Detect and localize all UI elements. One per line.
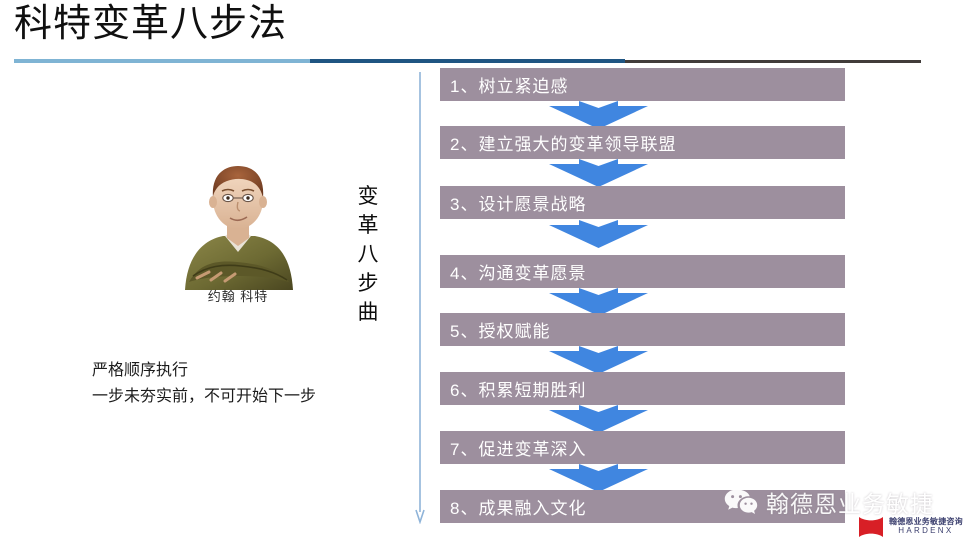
vertical-label-char: 革 (355, 211, 381, 240)
flow-step-label: 2、建立强大的变革领导联盟 (450, 130, 676, 155)
vertical-label-char: 曲 (355, 298, 381, 327)
flow-step-box-4[interactable]: 4、沟通变革愿景 (440, 255, 845, 288)
flow-arrow-5 (549, 346, 648, 374)
flow-arrow-6 (549, 405, 648, 433)
vertical-label-char: 步 (355, 269, 381, 298)
flow-arrow-3 (549, 220, 648, 248)
page-title: 科特变革八步法 (14, 0, 287, 50)
flow-step-label: 6、积累短期胜利 (450, 376, 586, 401)
hardenx-bowtie-icon (858, 516, 884, 538)
watermark: 翰德恩业务敏捷 (724, 485, 934, 519)
john-kotter-portrait (163, 152, 313, 292)
flow-arrow-1 (549, 101, 648, 129)
flow-step-box-2[interactable]: 2、建立强大的变革领导联盟 (440, 126, 845, 159)
flow-step-label: 3、设计愿景战略 (450, 190, 586, 215)
divider-segment-light (14, 59, 310, 63)
flow-step-box-5[interactable]: 5、授权赋能 (440, 313, 845, 346)
flow-step-box-3[interactable]: 3、设计愿景战略 (440, 186, 845, 219)
flow-step-box-7[interactable]: 7、促进变革深入 (440, 431, 845, 464)
note-line-1: 严格顺序执行 (92, 358, 316, 384)
portrait-caption: 约翰 科特 (163, 286, 313, 305)
flow-step-label: 8、成果融入文化 (450, 494, 586, 519)
vertical-label-char: 八 (355, 240, 381, 269)
divider-segment-blue (310, 59, 625, 63)
brand-name-en: HARDENX (889, 527, 963, 536)
flow-arrow-2 (549, 159, 648, 187)
flow-step-label: 7、促进变革深入 (450, 435, 586, 460)
slide-canvas: 科特变革八步法 (0, 0, 973, 545)
wechat-icon (724, 488, 758, 516)
brand-text-lines: 翰德恩业务敏捷咨询 HARDENX (889, 518, 963, 535)
flow-step-label: 4、沟通变革愿景 (450, 259, 586, 284)
note-block: 严格顺序执行 一步未夯实前，不可开始下一步 (92, 358, 316, 410)
divider-segment-dark (625, 60, 921, 63)
flow-step-box-6[interactable]: 6、积累短期胜利 (440, 372, 845, 405)
flow-step-label: 5、授权赋能 (450, 317, 550, 342)
watermark-text: 翰德恩业务敏捷 (766, 485, 934, 519)
vertical-label-char: 变 (355, 182, 381, 211)
flow-arrow-4 (549, 288, 648, 316)
flow-connector-line (414, 72, 426, 524)
flow-arrow-7 (549, 464, 648, 492)
flow-step-box-1[interactable]: 1、树立紧迫感 (440, 68, 845, 101)
flow-step-label: 1、树立紧迫感 (450, 72, 568, 97)
vertical-label-change-eight-steps: 变 革 八 步 曲 (355, 182, 381, 327)
brand-logo: 翰德恩业务敏捷咨询 HARDENX (858, 516, 963, 538)
note-line-2: 一步未夯实前，不可开始下一步 (92, 384, 316, 410)
